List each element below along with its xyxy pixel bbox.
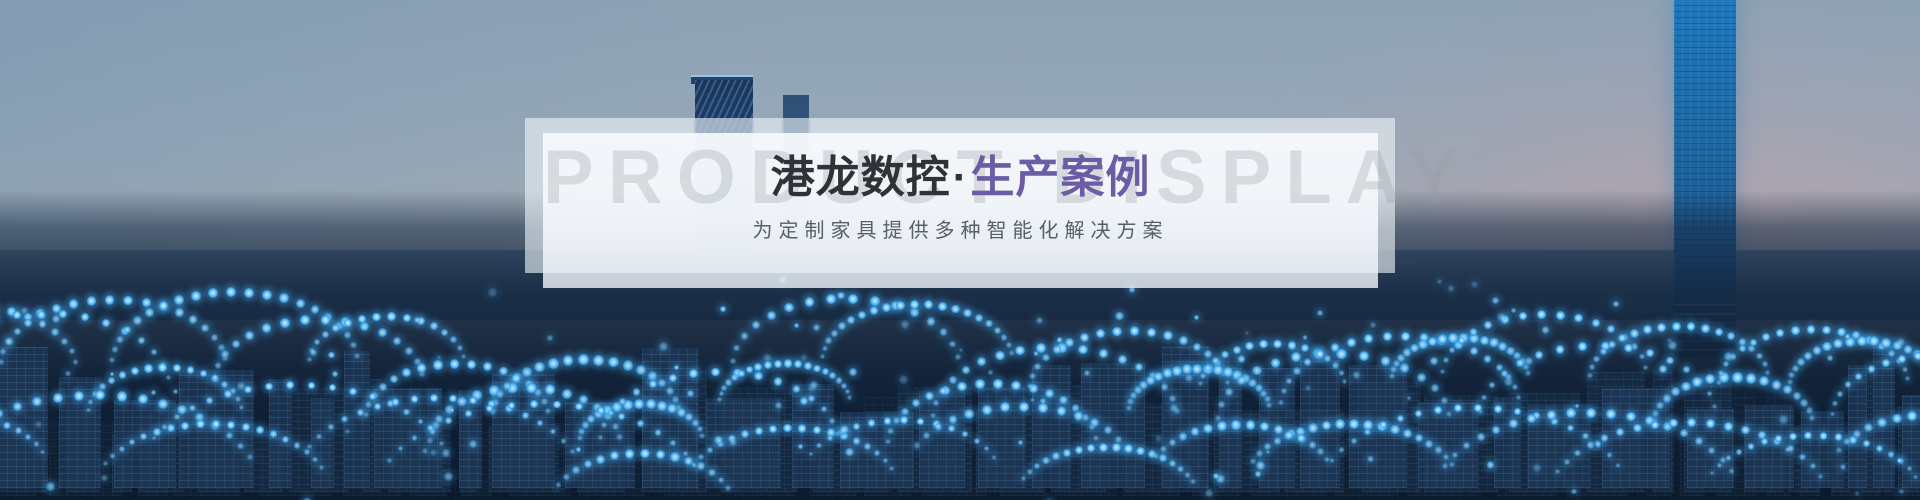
product-display-banner: PRODUCT DISPLAY 港龙数控·生产案例 为定制家具提供多种智能化解决… (0, 0, 1920, 500)
title-separator: · (951, 153, 971, 202)
page-subtitle: 为定制家具提供多种智能化解决方案 (543, 214, 1378, 243)
title-accent: 生产案例 (970, 153, 1150, 202)
title-primary: 港龙数控 (771, 153, 951, 202)
page-title: 港龙数控·生产案例 (543, 150, 1378, 205)
